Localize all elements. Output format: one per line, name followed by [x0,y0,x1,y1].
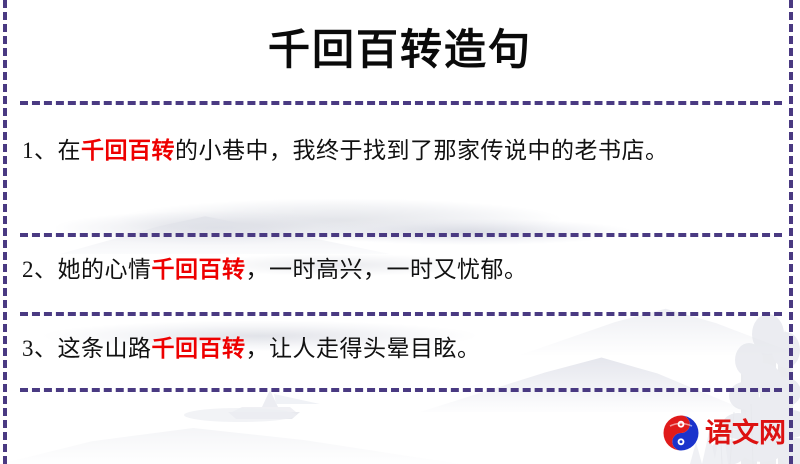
example-sentence-1: 1、在千回百转的小巷中，我终于找到了那家传说中的老书店。 [22,130,778,171]
site-logo-wordmark: 语文网 [705,418,786,448]
divider-dashed-2 [20,233,782,237]
example-sentence-3: 3、这条山路千回百转，让人走得头晕目眩。 [22,328,778,369]
taiji-circle-logo-icon [662,414,700,452]
sentence-number: 2、 [22,257,58,282]
sentence-number: 3、 [22,336,58,361]
sentence-number: 1、 [22,138,58,163]
sentence-text-plain: 她的心情 [58,257,152,282]
sentence-text-plain: 的小巷中，我终于找到了那家传说中的老书店。 [175,138,669,163]
divider-dashed-4 [20,388,782,392]
idiom-sentence-card: 千回百转造句 1、在千回百转的小巷中，我终于找到了那家传说中的老书店。 2、她的… [0,0,800,464]
keyword-highlight: 千回百转 [81,138,175,163]
keyword-highlight: 千回百转 [152,257,246,282]
example-sentence-2: 2、她的心情千回百转，一时高兴，一时又忧郁。 [22,249,778,290]
frame-right-dashed-border [789,0,793,464]
keyword-highlight: 千回百转 [152,336,246,361]
sentence-text-plain: 这条山路 [58,336,152,361]
divider-dashed-1 [20,101,782,105]
divider-dashed-3 [20,312,782,316]
sentence-text-plain: ，让人走得头晕目眩。 [246,336,481,361]
sentence-text-plain: 在 [58,138,82,163]
page-title: 千回百转造句 [0,24,800,78]
sentence-text-plain: ，一时高兴，一时又忧郁。 [246,257,528,282]
site-logo[interactable]: 语文网 [662,414,786,452]
frame-left-dashed-border [3,0,7,464]
